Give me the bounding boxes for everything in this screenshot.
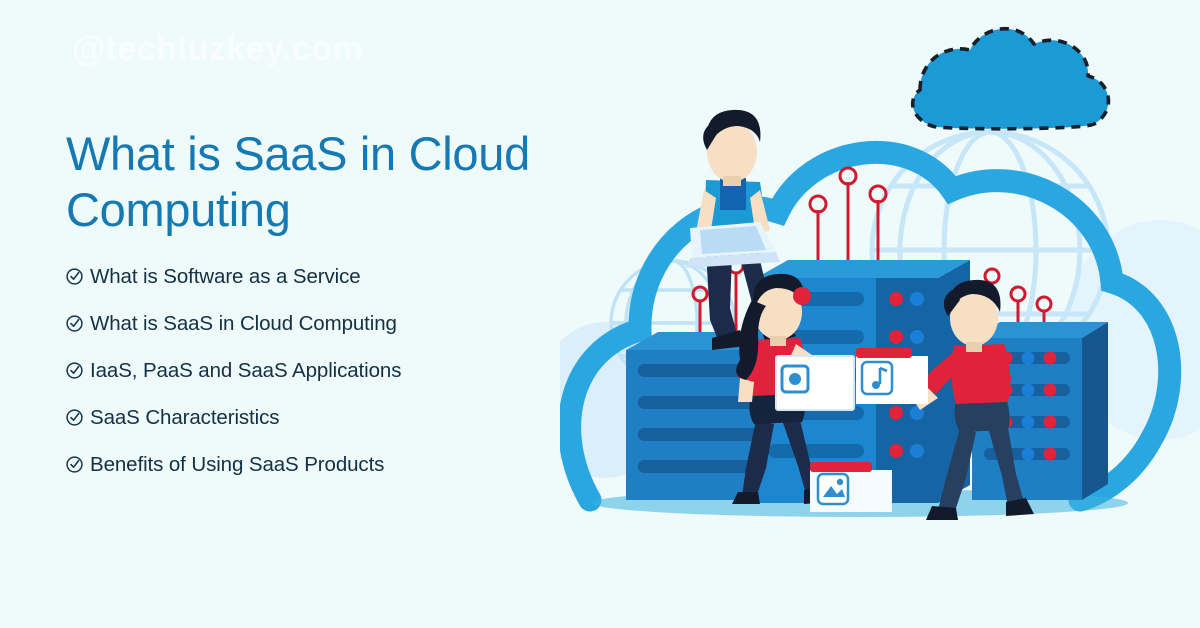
list-item-label: What is SaaS in Cloud Computing <box>90 311 397 337</box>
check-circle-icon <box>66 315 83 332</box>
list-item-label: Benefits of Using SaaS Products <box>90 452 384 478</box>
list-item-label: IaaS, PaaS and SaaS Applications <box>90 358 401 384</box>
check-circle-icon <box>66 409 83 426</box>
saas-cloud-badge <box>913 29 1109 129</box>
list-item[interactable]: IaaS, PaaS and SaaS Applications <box>66 358 536 384</box>
pin-markers-center <box>810 168 886 260</box>
list-item[interactable]: What is Software as a Service <box>66 264 536 290</box>
check-circle-icon <box>66 362 83 379</box>
saas-banner-page: @techluzkey.com What is SaaS in Cloud Co… <box>0 0 1200 628</box>
topic-list: What is Software as a Service What is Sa… <box>66 264 536 478</box>
check-circle-icon <box>66 456 83 473</box>
list-item[interactable]: SaaS Characteristics <box>66 405 536 431</box>
check-circle-icon <box>66 268 83 285</box>
list-item[interactable]: Benefits of Using SaaS Products <box>66 452 536 478</box>
cloud-badge-shape <box>913 29 1109 129</box>
site-watermark: @techluzkey.com <box>72 30 363 69</box>
list-item-label: What is Software as a Service <box>90 264 361 290</box>
content-column: What is SaaS in Cloud Computing What is … <box>66 126 536 499</box>
page-title: What is SaaS in Cloud Computing <box>66 126 536 238</box>
list-item[interactable]: What is SaaS in Cloud Computing <box>66 311 536 337</box>
list-item-label: SaaS Characteristics <box>90 405 279 431</box>
saas-illustration: SaaS <box>560 0 1200 628</box>
